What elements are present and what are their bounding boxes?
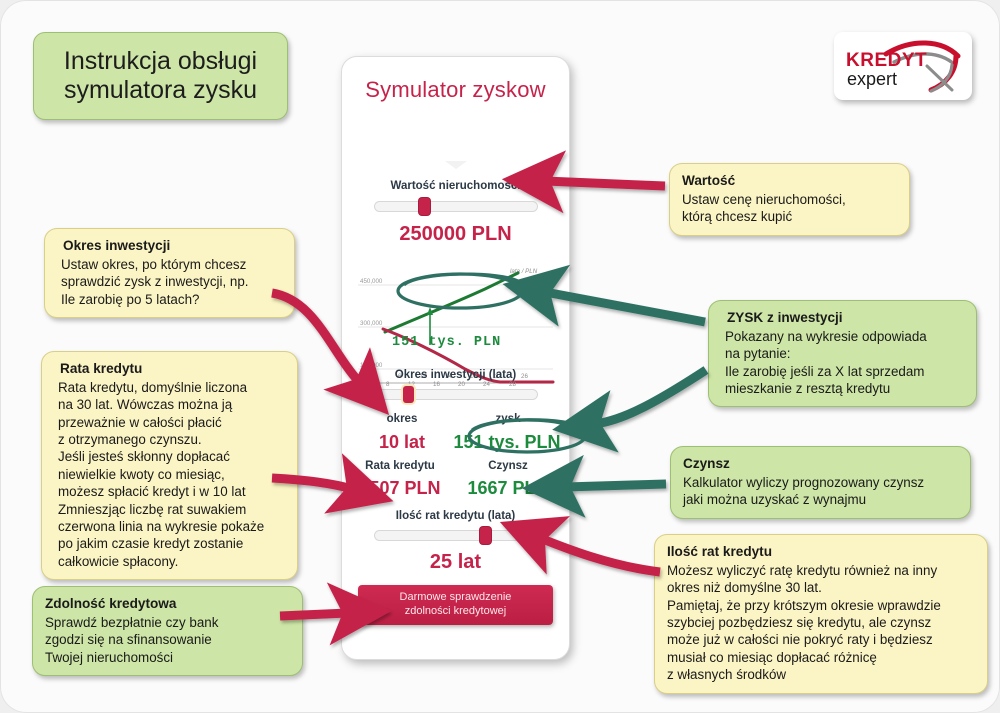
cta-line1: Darmowe sprawdzenie	[400, 591, 512, 605]
callout-czynsz: Czynsz Kalkulator wyliczy prognozowany c…	[670, 446, 971, 519]
installments-slider-label: Ilość rat kredytu (lata)	[342, 510, 569, 522]
panel-notch-icon	[445, 161, 467, 169]
brand-logo: KREDYT expert	[834, 32, 972, 100]
callout-okres-body: Ustaw okres, po którym chcesz sprawdzić …	[61, 256, 282, 308]
x-tick: 8	[386, 381, 390, 388]
y-tick-300000: 300,000	[360, 320, 383, 327]
callout-rata-title: Rata kredytu	[60, 360, 285, 378]
period-slider-label: Okres inwestycji (lata)	[342, 369, 569, 381]
rata-value: 1507 PLN	[346, 478, 454, 499]
infographic-root: Instrukcja obsługi symulatora zysku KRED…	[0, 0, 1000, 713]
callout-ilosc-rat-kredytu: Ilość rat kredytu Możesz wyliczyć ratę k…	[654, 534, 988, 694]
x-tick: 28	[509, 381, 516, 388]
callout-rata-kredytu: Rata kredytu Rata kredytu, domyślnie lic…	[41, 351, 298, 580]
chart-gain-annotation: 151 tys. PLN	[392, 335, 501, 350]
czynsz-label: Czynsz	[458, 460, 558, 472]
page-title-line2: symulatora zysku	[64, 76, 257, 106]
investment-period-slider-knob[interactable]	[403, 386, 414, 403]
arrow-zysk-value	[595, 370, 706, 424]
check-creditworthiness-button[interactable]: Darmowe sprawdzenie zdolności kredytowej	[358, 585, 553, 625]
callout-zdolnosc-body: Sprawdź bezpłatnie czy bank zgodzi się n…	[45, 614, 290, 666]
okres-value: 10 lat	[356, 432, 448, 453]
callout-wartosc: Wartość Ustaw cenę nieruchomości, którą …	[669, 163, 910, 236]
callout-czynsz-body: Kalkulator wyliczy prognozowany czynsz j…	[683, 474, 958, 509]
cta-line2: zdolności kredytowej	[400, 605, 512, 619]
callout-okres-title: Okres inwestycji	[63, 237, 282, 255]
installments-slider-knob[interactable]	[480, 527, 491, 544]
czynsz-value: 1667 PLN	[454, 478, 562, 499]
callout-zysk-body: Pokazany na wykresie odpowiada na pytani…	[725, 328, 964, 398]
callout-okres-inwestycji: Okres inwestycji Ustaw okres, po którym …	[44, 228, 295, 318]
x-tick: 24	[483, 381, 490, 388]
callout-czynsz-title: Czynsz	[683, 455, 958, 473]
page-title-line1: Instrukcja obsługi	[64, 47, 257, 77]
zysk-value: 151 tys. PLN	[452, 432, 562, 453]
callout-zysk-title: ZYSK z inwestycji	[727, 309, 964, 327]
y-tick-450000: 450,000	[360, 278, 383, 285]
installments-slider[interactable]	[374, 530, 538, 541]
page-title: Instrukcja obsługi symulatora zysku	[33, 32, 288, 120]
installments-value: 25 lat	[342, 551, 569, 574]
callout-ilosc-rat-title: Ilość rat kredytu	[667, 543, 975, 561]
arrow-czynsz	[565, 484, 666, 487]
callout-rata-body: Rata kredytu, domyślnie liczona na 30 la…	[58, 379, 285, 571]
value-slider-label: Wartość nieruchomości	[342, 180, 569, 192]
property-value-slider-knob[interactable]	[419, 198, 430, 215]
property-value-slider[interactable]	[374, 201, 538, 212]
callout-zdolnosc-kredytowa: Zdolność kredytowa Sprawdź bezpłatnie cz…	[32, 586, 303, 676]
okres-label: okres	[356, 413, 448, 425]
callout-wartosc-body: Ustaw cenę nieruchomości, którą chcesz k…	[682, 191, 897, 226]
series-property-value	[385, 273, 518, 332]
zysk-label: zysk	[460, 413, 556, 425]
callout-zysk-z-inwestycji: ZYSK z inwestycji Pokazany na wykresie o…	[708, 300, 977, 407]
callout-ilosc-rat-body: Możesz wyliczyć ratę kredytu również na …	[667, 562, 975, 684]
property-value-amount: 250000 PLN	[342, 223, 569, 246]
y-tick-150000: 150,000	[360, 362, 383, 369]
simulator-title: Symulator zyskow	[342, 77, 569, 103]
rata-label: Rata kredytu	[348, 460, 452, 472]
simulator-panel: Symulator zyskow Wartość nieruchomości 2…	[341, 56, 570, 660]
x-tick: 16	[433, 381, 440, 388]
logo-text-expert: expert	[847, 69, 897, 90]
callout-wartosc-title: Wartość	[682, 172, 897, 190]
x-tick: 20	[458, 381, 465, 388]
investment-period-slider[interactable]	[374, 389, 538, 400]
callout-zdolnosc-title: Zdolność kredytowa	[45, 595, 290, 613]
